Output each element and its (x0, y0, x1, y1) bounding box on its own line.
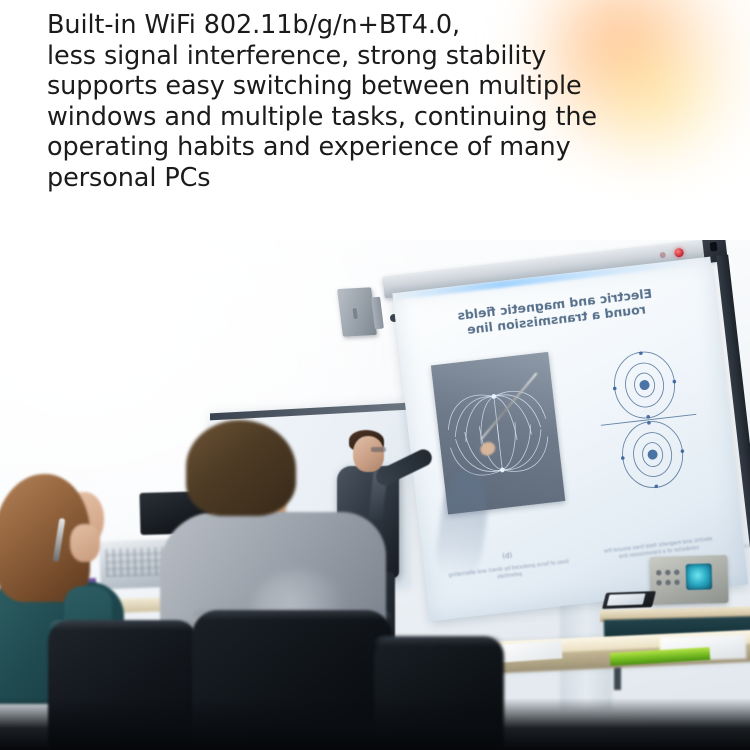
chair-back-edge (192, 610, 392, 620)
ceiling-speaker (337, 287, 377, 336)
tablet-device (602, 591, 656, 609)
slide-title: Electric and magnetic fields round a tra… (439, 284, 673, 340)
student-left-hand (70, 524, 100, 562)
tablet-screen (607, 593, 646, 605)
feature-caption-text: Built-in WiFi 802.11b/g/n+BT4.0, less si… (0, 0, 750, 193)
student-center-hair (186, 420, 296, 516)
product-feature-slide: Electric and magnetic fields round a tra… (0, 0, 750, 750)
chair-back-edge (374, 636, 504, 646)
oscilloscope (649, 555, 728, 605)
feature-caption-block: Built-in WiFi 802.11b/g/n+BT4.0, less si… (0, 0, 750, 240)
slide-column-left: electric and magnetic field lines around… (566, 332, 732, 581)
oscilloscope-screen (686, 563, 713, 590)
housing-indicator-secondary (659, 252, 666, 259)
housing-cap-detail (710, 242, 718, 252)
foreground-shadow (0, 698, 750, 750)
chair-back-edge (48, 620, 198, 630)
oscilloscope-knobs (655, 568, 682, 589)
field-lines-diagram-icon (586, 339, 710, 496)
housing-indicator-led (674, 248, 684, 258)
